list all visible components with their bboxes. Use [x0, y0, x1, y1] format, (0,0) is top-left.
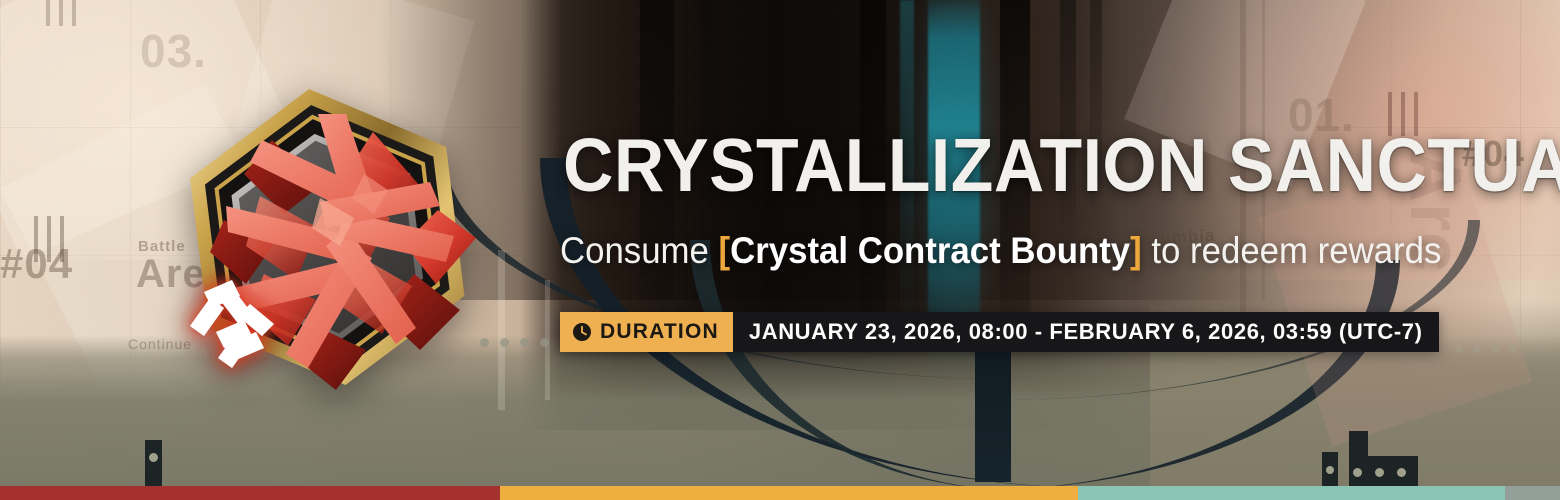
bracket-open-icon: [ — [719, 230, 731, 271]
indicator-dots-left — [480, 338, 549, 347]
strip-segment-teal — [1078, 486, 1505, 500]
strip-segment-gold — [500, 486, 1078, 500]
fixture-dot-right-small — [1326, 466, 1334, 474]
duration-label: DURATION — [600, 320, 719, 344]
bracket-close-icon: ] — [1130, 230, 1142, 271]
banner-title: CRYSTALLIZATION SANCTUARY — [563, 126, 1560, 204]
duration-bar: DURATION JANUARY 23, 2026, 08:00 - FEBRU… — [560, 312, 1439, 352]
light-bar-1 — [498, 250, 505, 410]
duration-badge: DURATION — [560, 312, 733, 352]
banner-subtitle: Consume [Crystal Contract Bounty] to red… — [560, 228, 1441, 274]
arch-trunk — [975, 352, 1011, 482]
strip-segment-red — [0, 486, 500, 500]
fixture-dot-right-3 — [1397, 468, 1406, 477]
subtitle-item-name: Crystal Contract Bounty — [730, 230, 1130, 271]
watermark-hash-left: #04 — [0, 240, 73, 288]
strip-segment-gray — [1505, 486, 1560, 500]
bottom-color-strip — [0, 486, 1560, 500]
clock-icon — [572, 322, 592, 342]
watermark-number-03: 03. — [140, 24, 207, 78]
subtitle-lead: Consume — [560, 230, 719, 271]
fixture-dot-left — [149, 453, 158, 462]
event-banner: 03. 01. #04 #04 Battle Arena Continue Co… — [0, 0, 1560, 500]
crystal-contract-bounty-emblem — [168, 78, 488, 408]
tally-marks-top-left — [46, 0, 76, 26]
subtitle-tail: to redeem rewards — [1142, 230, 1442, 271]
fixture-block-left — [145, 440, 162, 486]
indicator-dots-right — [1455, 345, 1517, 353]
fixture-dot-right-1 — [1353, 468, 1362, 477]
duration-value: JANUARY 23, 2026, 08:00 - FEBRUARY 6, 20… — [733, 312, 1439, 352]
fixture-dot-right-2 — [1375, 468, 1384, 477]
